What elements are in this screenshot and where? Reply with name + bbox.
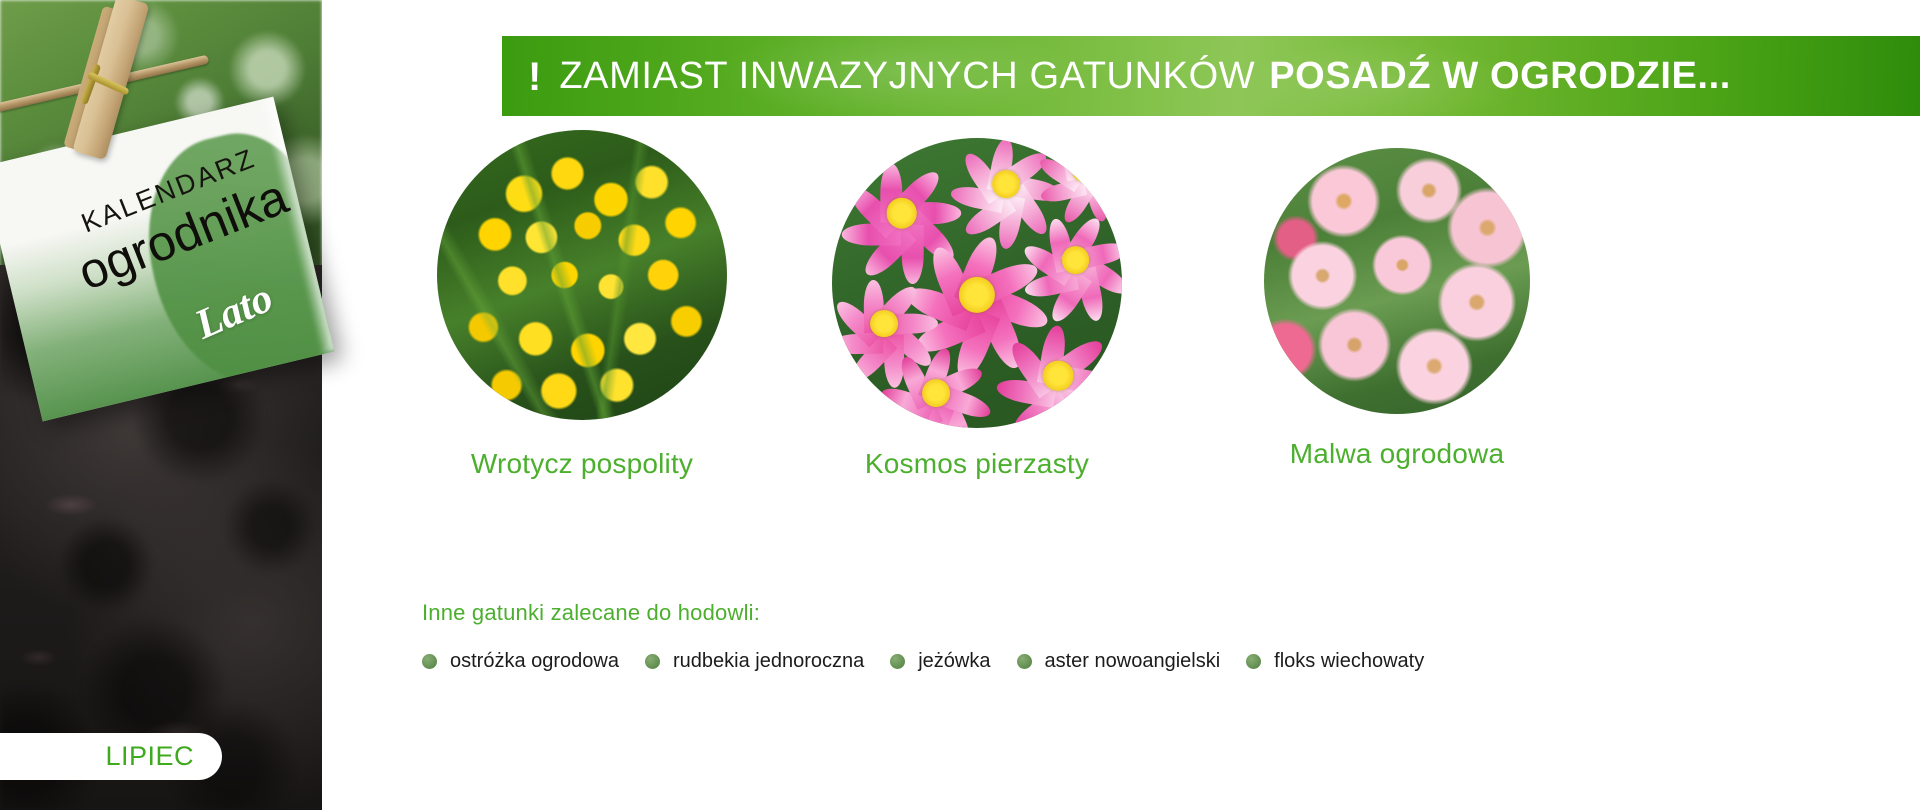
cosmos-flower-center [1072,158,1096,182]
bullet-dot-icon [1246,654,1261,669]
bullet-dot-icon [890,654,905,669]
flower-cards-row: Wrotycz pospolity Kosmos pierzast [322,130,1920,480]
species-item: floks wiechowaty [1246,650,1424,673]
flower-name-label: Wrotycz pospolity [437,448,727,480]
cosmos-flower-center [922,379,950,407]
flower-card-kosmos: Kosmos pierzasty [832,130,1122,480]
banner-text-bold: POSADŹ W OGRODZIE... [1269,55,1731,98]
other-species-title: Inne gatunki zalecane do hodowli: [422,600,1450,626]
species-item: aster nowoangielski [1017,650,1221,673]
bullet-dot-icon [1017,654,1032,669]
bullet-dot-icon [645,654,660,669]
species-name-label: jeżówka [918,650,990,673]
flower-photo-cosmos [832,138,1122,428]
bullet-dot-icon [422,654,437,669]
header-banner: ! ZAMIAST INWAZYJNYCH GATUNKÓW POSADŹ W … [502,36,1920,116]
flower-name-label: Kosmos pierzasty [832,448,1122,480]
left-panel: KALENDARZ ogrodnika Lato LIPIEC [0,0,322,810]
cosmos-bloom [994,312,1122,428]
species-name-label: floks wiechowaty [1274,650,1424,673]
other-species-list: ostróżka ogrodowarudbekia jednorocznajeż… [422,650,1450,673]
cosmos-flower-center [870,310,898,338]
month-badge: LIPIEC [0,733,222,780]
cosmos-flower-center [992,170,1020,198]
species-item: jeżówka [890,650,990,673]
month-label: LIPIEC [105,741,194,772]
banner-text-regular: ZAMIAST INWAZYJNYCH GATUNKÓW [559,55,1255,98]
flower-photo-tansy [437,130,727,420]
flower-photo-hollyhock [1264,148,1530,414]
cosmos-pink-flowers-photo [832,138,1122,428]
species-name-label: ostróżka ogrodowa [450,650,619,673]
flower-card-wrotycz: Wrotycz pospolity [437,130,727,480]
cosmos-flower-center [1062,246,1090,274]
other-species-section: Inne gatunki zalecane do hodowli: ostróż… [422,600,1450,673]
species-item: ostróżka ogrodowa [422,650,619,673]
species-name-label: rudbekia jednoroczna [673,650,864,673]
cosmos-flower-center [886,198,917,229]
flower-name-label: Malwa ogrodowa [1252,438,1542,470]
flower-card-malwa: Malwa ogrodowa [1252,130,1542,470]
main-content: ! ZAMIAST INWAZYJNYCH GATUNKÓW POSADŹ W … [322,0,1920,810]
species-item: rudbekia jednoroczna [645,650,864,673]
species-name-label: aster nowoangielski [1045,650,1221,673]
exclamation-mark-icon: ! [528,57,541,97]
hollyhock-pink-flowers-photo [1264,148,1530,414]
cosmos-flower-center [1043,360,1074,391]
poster-root: KALENDARZ ogrodnika Lato LIPIEC ! ZAMIAS… [0,0,1920,810]
tansy-yellow-flowers-photo [437,130,727,420]
